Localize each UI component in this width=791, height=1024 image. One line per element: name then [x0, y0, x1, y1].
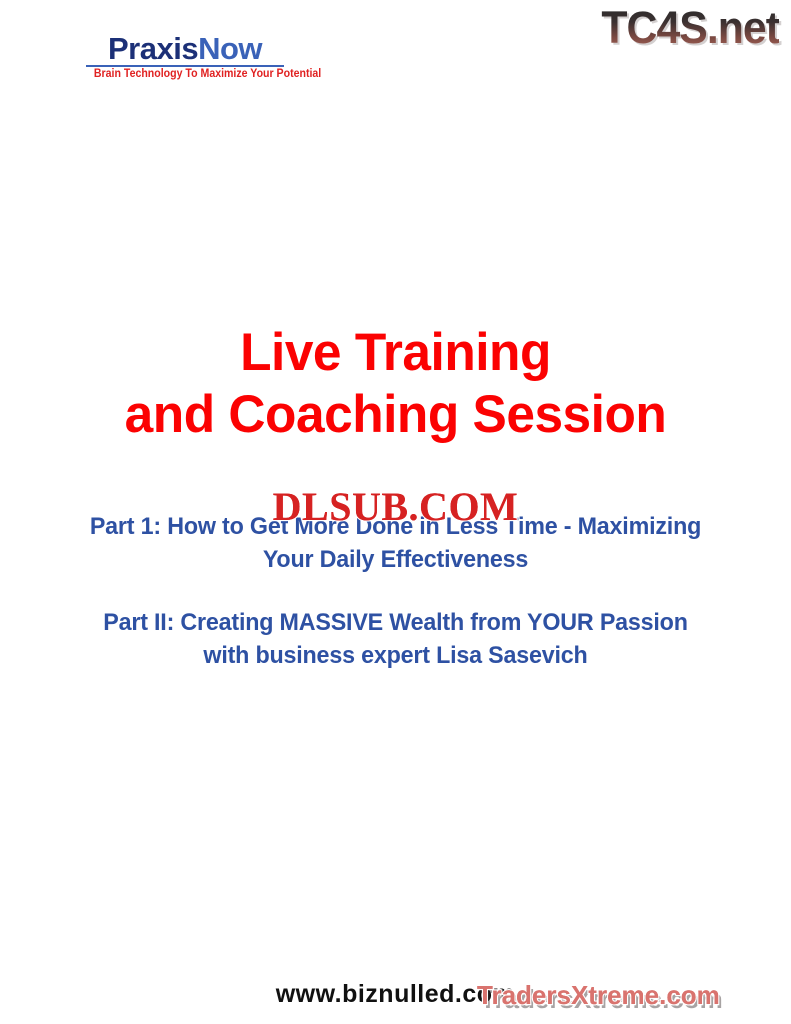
logo-wordmark: PraxisNow	[86, 33, 284, 64]
page-title-line-2: and Coaching Session	[12, 384, 779, 446]
tradersxtreme-watermark: TradersXtreme.com	[477, 980, 720, 1010]
tradersxtreme-watermark-group: TradersXtreme.com TradersXtreme.com Trad…	[477, 980, 787, 1020]
dlsub-watermark: DLSUB.COM	[0, 487, 791, 527]
document-page: PraxisNow Brain Technology To Maximize Y…	[0, 0, 791, 1024]
tc4s-watermark: TC4S.net	[601, 4, 779, 51]
logo-word-now: Now	[198, 31, 262, 66]
logo-word-praxis: Praxis	[108, 31, 198, 66]
page-title: Live Training and Coaching Session	[12, 322, 779, 446]
session-part-2-line-1: Part II: Creating MASSIVE Wealth from YO…	[12, 606, 779, 639]
session-part-1-line-2: Your Daily Effectiveness	[12, 543, 779, 576]
praxisnow-logo: PraxisNow Brain Technology To Maximize Y…	[86, 33, 284, 80]
session-part-2-line-2: with business expert Lisa Sasevich	[12, 639, 779, 672]
session-part-2: Part II: Creating MASSIVE Wealth from YO…	[12, 606, 779, 672]
logo-tagline: Brain Technology To Maximize Your Potent…	[94, 69, 276, 81]
page-title-line-1: Live Training	[12, 322, 779, 384]
